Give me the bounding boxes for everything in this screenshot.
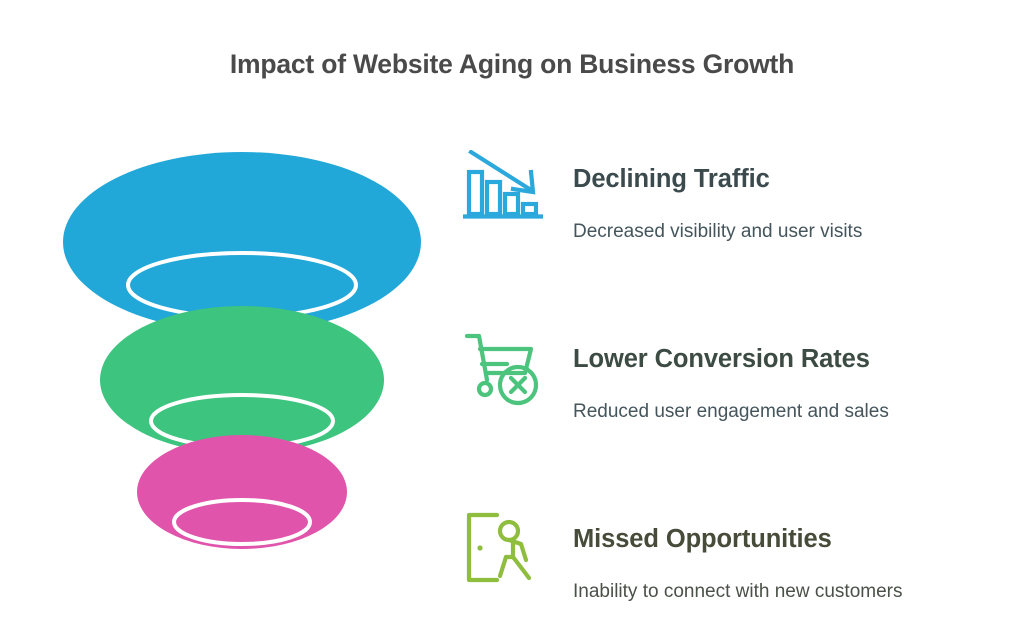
funnel-stage-2 bbox=[100, 306, 384, 454]
person-leaving-door-icon bbox=[463, 510, 543, 588]
list-item-subtitle: Reduced user engagement and sales bbox=[573, 400, 889, 425]
funnel-svg bbox=[46, 124, 446, 564]
list-item-heading: Lower Conversion Rates bbox=[573, 344, 870, 375]
funnel-stage-3-body bbox=[137, 435, 347, 549]
cart-with-x-icon bbox=[463, 330, 543, 408]
declining-bar-chart-icon bbox=[463, 150, 543, 228]
list-item-heading: Missed Opportunities bbox=[573, 524, 832, 555]
funnel-stage-3 bbox=[137, 435, 347, 549]
list-item-heading: Declining Traffic bbox=[573, 164, 770, 195]
list-item-subtitle: Inability to connect with new customers bbox=[573, 580, 903, 605]
infographic-canvas: Impact of Website Aging on Business Grow… bbox=[0, 0, 1024, 635]
list-item-subtitle: Decreased visibility and user visits bbox=[573, 220, 862, 245]
funnel-stage-2-body bbox=[100, 306, 384, 454]
impact-list: Declining Traffic Decreased visibility a… bbox=[455, 124, 1015, 624]
funnel-graphic bbox=[46, 124, 446, 564]
page-title: Impact of Website Aging on Business Grow… bbox=[0, 49, 1024, 81]
funnel-stage-1-body bbox=[63, 152, 421, 332]
funnel-stage-1 bbox=[63, 152, 421, 332]
